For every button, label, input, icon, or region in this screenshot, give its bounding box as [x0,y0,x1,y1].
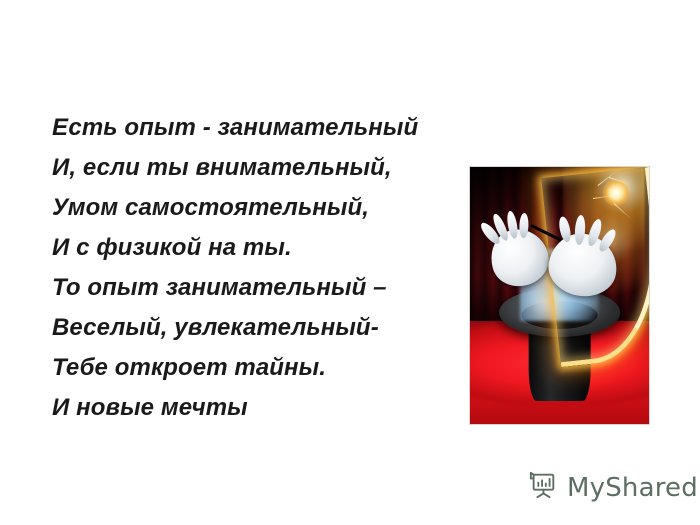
slide-canvas: Есть опыт - занимательный И, если ты вни… [0,0,700,525]
spark-burst-icon [603,180,629,206]
poem-line: Тебе откроет тайны. [52,348,452,388]
magic-illustration-frame [469,166,650,425]
poem-line: Веселый, увлекательный- [52,308,452,348]
poem-text-block: Есть опыт - занимательный И, если ты вни… [52,108,452,428]
magic-illustration [470,167,649,424]
poem-line: Есть опыт - занимательный [52,108,452,148]
poem-line: То опыт занимательный – [52,268,452,308]
myshared-logo-text: MyShared [567,475,698,501]
poem-line: Умом самостоятельный, [52,188,452,228]
myshared-easel-chart-icon [528,470,558,505]
poem-line: И с физикой на ты. [52,228,452,268]
poem-line: И, если ты внимательный, [52,148,452,188]
myshared-logo[interactable]: MyShared [528,470,698,505]
poem-line: И новые мечты [52,388,452,428]
